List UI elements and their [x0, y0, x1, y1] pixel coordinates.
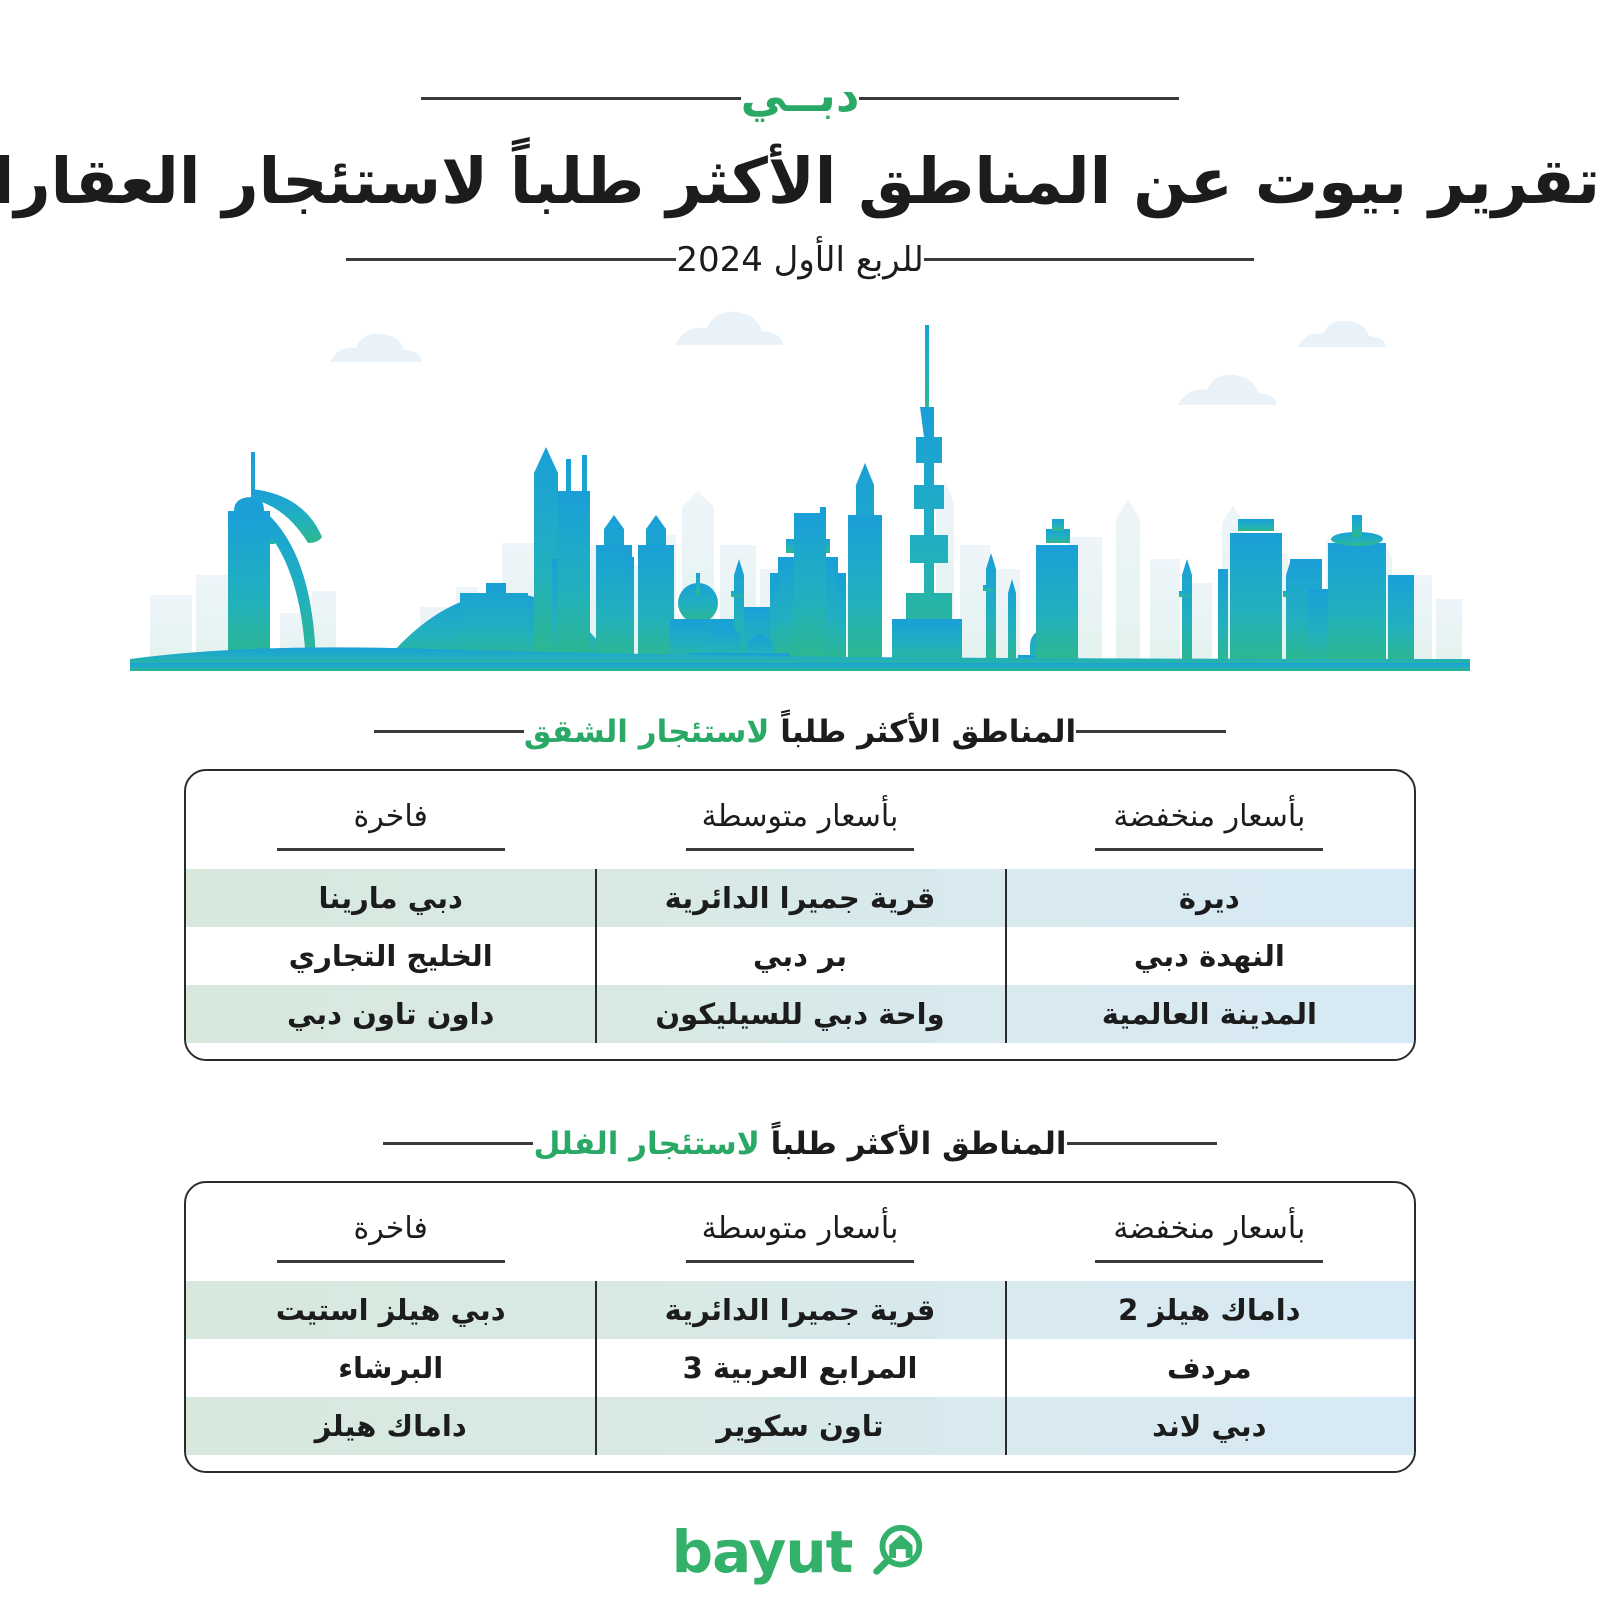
subtitle-row: للربع الأول 2024 [0, 225, 1600, 295]
column-header: بأسعار متوسطة [595, 1211, 1004, 1281]
table-row: مردفالمرابع العربية 3البرشاء [186, 1339, 1414, 1397]
cloud-group [330, 312, 1386, 405]
section-title: المناطق الأكثر طلباً لاستئجار الشقق [524, 714, 1076, 750]
column-header-label: بأسعار منخفضة [1113, 799, 1305, 848]
column-header-underline [1095, 1260, 1323, 1263]
report-period: للربع الأول 2024 [676, 240, 923, 280]
section-title-accent: لاستئجار الشقق [524, 714, 770, 750]
report-header: دبــي تقرير بيوت عن المناطق الأكثر طلباً… [0, 0, 1600, 295]
table-cell-low: المدينة العالمية [1005, 997, 1414, 1031]
column-header-underline [277, 1260, 505, 1263]
table-row: النهدة دبيبر دبيالخليج التجاري [186, 927, 1414, 985]
table-cell-low: داماك هيلز 2 [1005, 1293, 1414, 1327]
table-body: داماك هيلز 2قرية جميرا الدائريةدبي هيلز … [186, 1281, 1414, 1455]
section-title-plain: المناطق الأكثر طلباً [780, 714, 1076, 750]
table-cell-mid: تاون سكوير [595, 1409, 1004, 1443]
section-rule-right [1067, 1142, 1217, 1145]
table-cell-lux: دبي مارينا [186, 881, 595, 915]
column-header: بأسعار منخفضة [1005, 1211, 1414, 1281]
table-card: بأسعار منخفضةبأسعار متوسطةفاخرةديرةقرية … [184, 769, 1416, 1061]
sections-host: المناطق الأكثر طلباً لاستئجار الشققبأسعا… [0, 705, 1600, 1473]
card-footer-spacer [186, 1043, 1414, 1059]
table-cell-lux: داماك هيلز [186, 1409, 595, 1443]
table-cell-lux: داون تاون دبي [186, 997, 595, 1031]
dubai-skyline-illustration [130, 307, 1470, 687]
infographic-page: دبــي تقرير بيوت عن المناطق الأكثر طلباً… [0, 0, 1600, 1600]
table-cell-mid: بر دبي [595, 939, 1004, 973]
eyebrow-row: دبــي [0, 62, 1600, 134]
table-body: ديرةقرية جميرا الدائريةدبي ماريناالنهدة … [186, 869, 1414, 1043]
table-row: دبي لاندتاون سكويرداماك هيلز [186, 1397, 1414, 1455]
table-cell-mid: قرية جميرا الدائرية [595, 1293, 1004, 1327]
column-header-underline [1095, 848, 1323, 851]
page-title: تقرير بيوت عن المناطق الأكثر طلباً لاستئ… [0, 144, 1600, 221]
city-name: دبــي [741, 72, 860, 124]
column-header-label: فاخرة [354, 799, 428, 848]
table-cell-low: دبي لاند [1005, 1409, 1414, 1443]
section-title-plain: المناطق الأكثر طلباً [771, 1126, 1067, 1162]
table-cell-mid: قرية جميرا الدائرية [595, 881, 1004, 915]
section-rule-left [383, 1142, 533, 1145]
table-cell-lux: دبي هيلز استيت [186, 1293, 595, 1327]
eyebrow-rule-left [421, 97, 741, 100]
table-cell-lux: البرشاء [186, 1351, 595, 1385]
column-header-label: بأسعار متوسطة [702, 1211, 899, 1260]
section-heading: المناطق الأكثر طلباً لاستئجار الشقق [184, 705, 1416, 759]
table-cell-low: ديرة [1005, 881, 1414, 915]
table-row: داماك هيلز 2قرية جميرا الدائريةدبي هيلز … [186, 1281, 1414, 1339]
eyebrow-rule-right [859, 97, 1179, 100]
section-villas: المناطق الأكثر طلباً لاستئجار الفللبأسعا… [184, 1117, 1416, 1473]
section-title-accent: لاستئجار الفلل [533, 1126, 759, 1162]
table-cell-low: مردف [1005, 1351, 1414, 1385]
column-header-underline [277, 848, 505, 851]
column-header: بأسعار متوسطة [595, 799, 1004, 869]
table-row: ديرةقرية جميرا الدائريةدبي مارينا [186, 869, 1414, 927]
column-header: فاخرة [186, 1211, 595, 1281]
section-heading: المناطق الأكثر طلباً لاستئجار الفلل [184, 1117, 1416, 1171]
section-rule-right [1076, 730, 1226, 733]
table-cell-low: النهدة دبي [1005, 939, 1414, 973]
table-cell-mid: واحة دبي للسيليكون [595, 997, 1004, 1031]
section-rule-left [374, 730, 524, 733]
bayut-logo[interactable]: bayut [0, 1521, 1600, 1583]
column-header-underline [686, 1260, 914, 1263]
bayut-wordmark: bayut [672, 1523, 853, 1581]
column-header: فاخرة [186, 799, 595, 869]
table-cell-lux: الخليج التجاري [186, 939, 595, 973]
column-header-label: بأسعار منخفضة [1113, 1211, 1305, 1260]
column-header: بأسعار منخفضة [1005, 799, 1414, 869]
subtitle-rule-right [924, 258, 1254, 261]
column-header-row: بأسعار منخفضةبأسعار متوسطةفاخرة [186, 1183, 1414, 1281]
subtitle-rule-left [346, 258, 676, 261]
column-header-label: فاخرة [354, 1211, 428, 1260]
section-apartments: المناطق الأكثر طلباً لاستئجار الشققبأسعا… [184, 705, 1416, 1061]
section-title: المناطق الأكثر طلباً لاستئجار الفلل [533, 1126, 1066, 1162]
table-card: بأسعار منخفضةبأسعار متوسطةفاخرةداماك هيل… [184, 1181, 1416, 1473]
magnifier-house-icon [866, 1521, 928, 1583]
column-header-label: بأسعار متوسطة [702, 799, 899, 848]
table-cell-mid: المرابع العربية 3 [595, 1351, 1004, 1385]
card-footer-spacer [186, 1455, 1414, 1471]
column-header-underline [686, 848, 914, 851]
column-header-row: بأسعار منخفضةبأسعار متوسطةفاخرة [186, 771, 1414, 869]
table-row: المدينة العالميةواحة دبي للسيليكونداون ت… [186, 985, 1414, 1043]
